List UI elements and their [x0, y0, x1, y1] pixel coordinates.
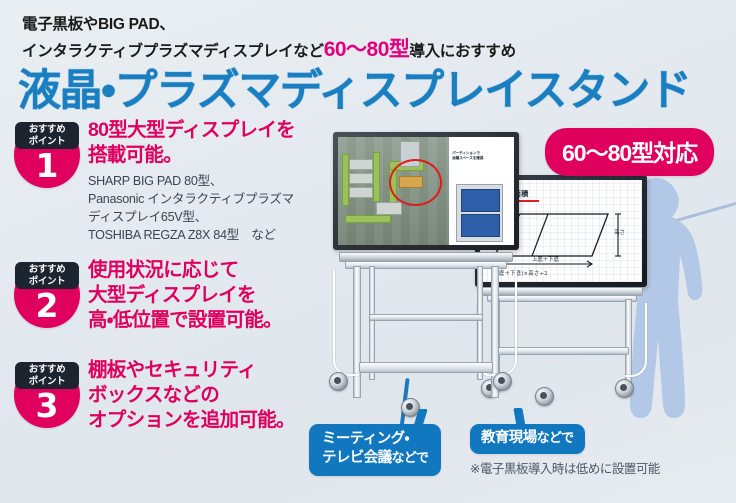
- caster-wheel: [615, 379, 634, 398]
- stand-bottom-shelf: [359, 362, 493, 373]
- point-detail-line: TOSHIBA REGZA Z8X 84型 など: [88, 227, 343, 245]
- kicker-line-1: 電子黒板やBIG PAD、: [22, 12, 175, 34]
- point-heading-line: ボックスなどの: [88, 383, 343, 408]
- screen-window-graphic: [456, 184, 504, 242]
- highlight-ellipse: [389, 159, 442, 206]
- page-title: 液晶•プラズマディスプレイスタンド: [18, 56, 690, 118]
- stand-support-arm: [625, 303, 647, 377]
- badge-point-text: ポイント: [29, 137, 65, 147]
- product-banner: 電子黒板やBIG PAD、 インタラクティブプラズマディスプレイなど60〜80型…: [0, 0, 736, 503]
- point-heading-line: 大型ディスプレイを: [88, 283, 343, 308]
- large-display-monitor: パーティションで 会議スペースを確保: [333, 132, 519, 250]
- badge-number: 3: [14, 388, 80, 424]
- display-stand-unit: パーティションで 会議スペースを確保: [325, 130, 520, 430]
- stand-support-arm: [333, 270, 359, 376]
- point-badge-3: おすすめ ポイント 3: [14, 362, 80, 428]
- badge-number: 2: [14, 288, 80, 324]
- callout-edu-rest: などで: [537, 430, 574, 445]
- product-photo-scene: 台形の面積 高さ 上底＋下底 (上底＋下底)×高さ÷2: [325, 130, 645, 450]
- point-body: 棚板やセキュリティ ボックスなどの オプションを追加可能。: [88, 358, 343, 433]
- callout-edu-bold: 教育現場: [481, 430, 537, 446]
- point-heading-line: オプションを追加可能。: [88, 408, 343, 433]
- badge-osusume-text: おすすめ: [29, 125, 65, 135]
- point-heading-line: 使用状況に応じて: [88, 258, 343, 283]
- point-heading-line: 棚板やセキュリティ: [88, 358, 343, 383]
- callout-meeting-usage: ミーティング・ テレビ会議などで: [309, 424, 441, 476]
- point-heading-line: 80型大型ディスプレイを: [88, 118, 343, 143]
- point-body: 80型大型ディスプレイを 搭載可能。 SHARP BIG PAD 80型、 Pa…: [88, 118, 343, 244]
- office-layout-image: [338, 137, 449, 245]
- callout-line-2-bold: テレビ会議: [322, 450, 392, 466]
- stand-support-arm: [491, 270, 517, 376]
- whiteboard-base-label: 上底＋下底: [532, 255, 559, 263]
- badge-header-label: おすすめ ポイント: [15, 362, 79, 389]
- callout-line-2-rest: などで: [392, 450, 429, 465]
- point-detail-line: Panasonic インタラクティブプラズマ: [88, 191, 343, 209]
- point-badge-2: おすすめ ポイント 2: [14, 262, 80, 328]
- point-heading-line: 高・低位置で設置可能。: [88, 308, 343, 333]
- badge-osusume-text: おすすめ: [29, 265, 65, 275]
- badge-header-label: おすすめ ポイント: [15, 122, 79, 149]
- display-screen: パーティションで 会議スペースを確保: [338, 137, 514, 245]
- stand-middle-shelf: [369, 314, 483, 321]
- point-detail-line: SHARP BIG PAD 80型、: [88, 173, 343, 191]
- point-badge-1: おすすめ ポイント 1: [14, 122, 80, 188]
- badge-osusume-text: おすすめ: [29, 365, 65, 375]
- size-compatibility-badge: 60〜80型対応: [545, 128, 714, 176]
- badge-point-text: ポイント: [29, 277, 65, 287]
- callout-edu-text: 教育現場などで: [481, 429, 574, 448]
- education-note: ※電子黒板導入時は低めに設置可能: [470, 459, 660, 477]
- callout-line-1: ミーティング・: [322, 430, 428, 449]
- point-heading-line: 搭載可能。: [88, 143, 343, 168]
- screen-caption-line-2: 会議スペースを確保: [452, 156, 512, 161]
- caster-wheel: [493, 372, 512, 391]
- badge-number: 1: [14, 148, 80, 184]
- callout-line-2: テレビ会議などで: [322, 449, 428, 468]
- caster-wheel: [535, 387, 554, 406]
- callout-education-usage: 教育現場などで: [470, 424, 585, 454]
- whiteboard-height-label: 高さ: [614, 228, 625, 236]
- point-body: 使用状況に応じて 大型ディスプレイを 高・低位置で設置可能。: [88, 258, 343, 333]
- point-detail-line: ディスプレイ65V型、: [88, 209, 343, 227]
- caster-wheel: [329, 372, 348, 391]
- badge-point-text: ポイント: [29, 377, 65, 387]
- badge-header-label: おすすめ ポイント: [15, 262, 79, 289]
- screen-caption: パーティションで 会議スペースを確保: [452, 151, 512, 162]
- banner-header: 電子黒板やBIG PAD、 インタラクティブプラズマディスプレイなど60〜80型…: [0, 0, 736, 110]
